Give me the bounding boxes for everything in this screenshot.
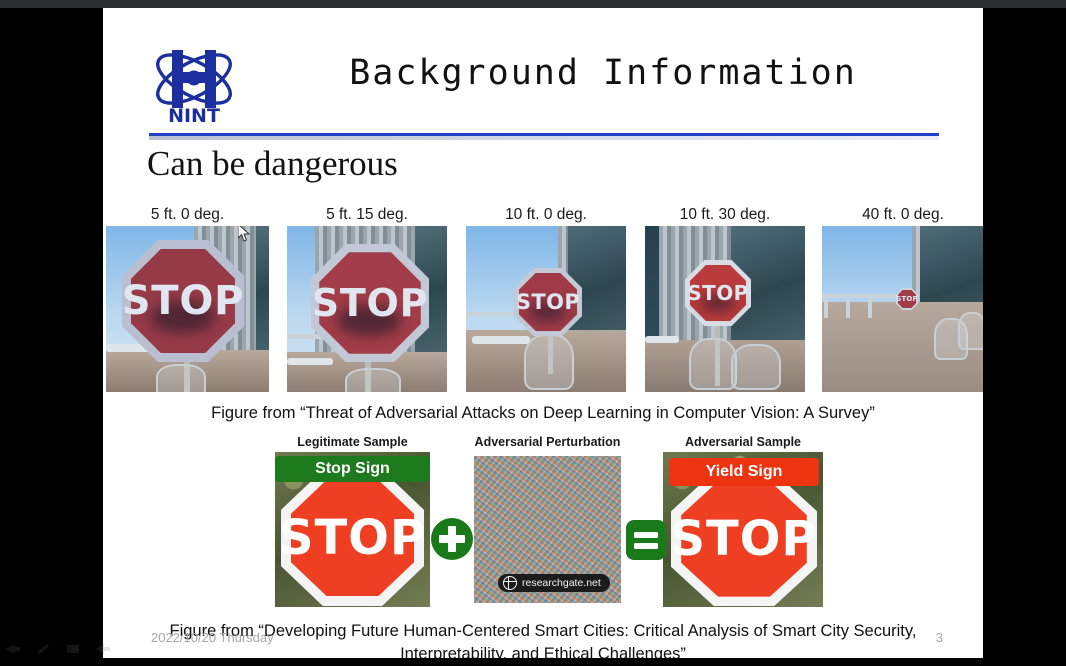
- stop-sign-3: STOP: [514, 268, 582, 336]
- stop-sign-photo-row: 5 ft. 0 deg. STOP: [104, 204, 983, 404]
- photo-2: STOP: [287, 226, 447, 392]
- stop-sign-1: STOP: [122, 240, 244, 362]
- window-top-bar: [0, 0, 1066, 8]
- stop-sign-2: STOP: [311, 244, 429, 362]
- stop-sign-4: STOP: [685, 260, 751, 326]
- caption-line-2: Interpretability, and Ethical Challenges…: [103, 643, 983, 658]
- next-slide-icon[interactable]: [95, 642, 111, 656]
- researchgate-watermark: researchgate.net: [498, 574, 610, 592]
- nint-logo-text: NINT: [168, 105, 220, 124]
- screen: NINT Background Information Can be dange…: [0, 0, 1066, 666]
- stop-sign-5: STOP: [896, 288, 918, 310]
- stop-sign-adversarial: STOP: [671, 472, 817, 606]
- viewer-toolbar[interactable]: [5, 642, 111, 656]
- nint-logo: NINT: [150, 38, 238, 124]
- photo-cell-1: 5 ft. 0 deg. STOP: [106, 204, 269, 392]
- panel-adversarial-sample: Adversarial Sample Yield Sign STOP: [663, 432, 823, 607]
- panel-label-perturbation: Adversarial Perturbation: [470, 432, 625, 452]
- title-rule-gradient: [149, 136, 939, 140]
- photo-1: STOP: [106, 226, 269, 392]
- photo-label-4: 10 ft. 30 deg.: [645, 204, 805, 226]
- nint-logo-icon: NINT: [150, 38, 238, 124]
- plus-icon: [431, 518, 473, 560]
- pen-tool-icon[interactable]: [35, 642, 51, 656]
- photo-4: STOP: [645, 226, 805, 392]
- slides-grid-icon[interactable]: [65, 642, 81, 656]
- photo-cell-5: 40 ft. 0 deg. STOP: [822, 204, 983, 392]
- pointer-tool-icon[interactable]: [5, 642, 21, 656]
- photo-cell-3: 10 ft. 0 deg. STOP: [466, 204, 626, 392]
- stop-sign-legitimate: STOP: [281, 470, 424, 606]
- tag-yield-sign: Yield Sign: [669, 458, 819, 486]
- panel-perturbation: Adversarial Perturbation researchgate.ne…: [470, 432, 625, 607]
- photo-label-5: 40 ft. 0 deg.: [822, 204, 983, 226]
- watermark-text: researchgate.net: [522, 577, 601, 589]
- adversarial-figure: Legitimate Sample Stop Sign STOP Ad: [103, 432, 983, 632]
- photo-cell-2: 5 ft. 15 deg. STOP: [287, 204, 447, 392]
- panel-label-adversarial: Adversarial Sample: [663, 432, 823, 452]
- photo-label-1: 5 ft. 0 deg.: [106, 204, 269, 226]
- perturbation-image: researchgate.net: [470, 452, 625, 607]
- photo-cell-4: 10 ft. 30 deg. STOP: [645, 204, 805, 392]
- panel-label-legitimate: Legitimate Sample: [275, 432, 430, 452]
- adversarial-sample-image: Yield Sign STOP: [663, 452, 823, 607]
- equals-icon: [626, 520, 666, 560]
- panel-legitimate-sample: Legitimate Sample Stop Sign STOP: [275, 432, 430, 607]
- page-title: Background Information: [253, 53, 953, 93]
- subheading: Can be dangerous: [147, 144, 398, 184]
- footer-date: 2022/10/20 Thursday: [151, 630, 274, 645]
- mouse-cursor-icon: [238, 226, 250, 242]
- footer-page-number: 3: [936, 630, 943, 645]
- tag-stop-sign: Stop Sign: [275, 456, 430, 482]
- slide-canvas: NINT Background Information Can be dange…: [103, 8, 983, 658]
- photo-label-2: 5 ft. 15 deg.: [287, 204, 447, 226]
- legitimate-sample-image: Stop Sign STOP: [275, 452, 430, 607]
- photo-row-caption: Figure from “Threat of Adversarial Attac…: [103, 404, 983, 423]
- photo-label-3: 10 ft. 0 deg.: [466, 204, 626, 226]
- globe-icon: [503, 576, 517, 590]
- photo-5: STOP: [822, 226, 983, 392]
- photo-3: STOP: [466, 226, 626, 392]
